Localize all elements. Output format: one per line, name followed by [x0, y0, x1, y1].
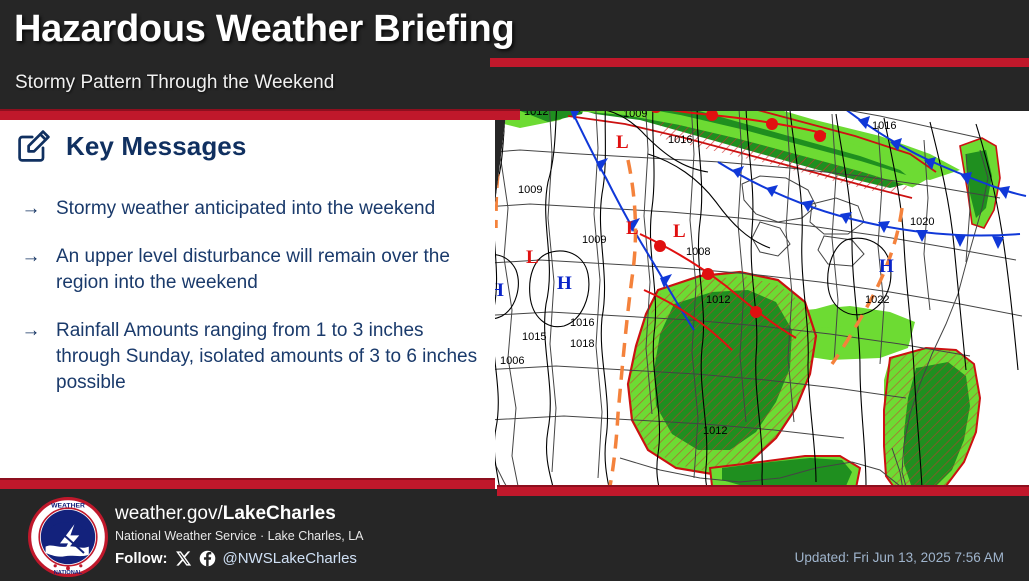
arrow-right-icon: → [20, 318, 42, 344]
briefing-graphic: 1012 1009 1020 1016 1012 1016 1020 1009 … [0, 0, 1029, 581]
isobar-label: 1020 [910, 216, 934, 228]
url-office: LakeCharles [223, 503, 336, 524]
isobar-label: 1018 [570, 338, 594, 350]
panel-bottom-accent-bar [0, 480, 495, 489]
social-row: Follow: @NWSLakeCharles [115, 550, 364, 567]
arrow-right-icon: → [20, 244, 42, 270]
x-twitter-icon[interactable] [175, 550, 192, 567]
branding-block: weather.gov/LakeCharles National Weather… [115, 503, 364, 567]
header-accent-bar [0, 111, 520, 120]
high-pressure-marker: H [879, 256, 894, 278]
low-pressure-marker: L [526, 247, 539, 269]
isobar-label: 1016 [872, 120, 896, 132]
bullet-text: Stormy weather anticipated into the week… [56, 196, 435, 222]
url-prefix: weather.gov/ [115, 503, 223, 524]
isobar-label: 1012 [703, 425, 727, 437]
bullet-text: An upper level disturbance will remain o… [56, 244, 486, 296]
header-bar: Hazardous Weather Briefing Stormy Patter… [0, 0, 1029, 111]
office-url[interactable]: weather.gov/LakeCharles [115, 503, 364, 525]
isobar-label: 1006 [500, 355, 524, 367]
isobar-label: 1008 [686, 246, 710, 258]
list-item: → Stormy weather anticipated into the we… [20, 196, 490, 222]
isobar-label: 1009 [518, 184, 542, 196]
isobar-label: 1012 [706, 294, 730, 306]
list-item: → An upper level disturbance will remain… [20, 244, 490, 296]
key-messages-list: → Stormy weather anticipated into the we… [20, 196, 490, 418]
map-bottom-accent-bar [497, 487, 1029, 496]
low-pressure-marker: L [616, 132, 629, 154]
isobar-label: 1016 [570, 317, 594, 329]
social-handle[interactable]: @NWSLakeCharles [223, 550, 357, 567]
arrow-right-icon: → [20, 196, 42, 222]
follow-label: Follow: [115, 550, 168, 567]
pencil-square-icon [16, 128, 52, 164]
low-pressure-marker: L [673, 221, 686, 243]
updated-timestamp: Updated: Fri Jun 13, 2025 7:56 AM [795, 550, 1004, 565]
map-top-accent-bar [490, 58, 1029, 67]
isobar-label: 1015 [522, 331, 546, 343]
svg-text:NATIONAL: NATIONAL [54, 570, 83, 576]
page-title: Hazardous Weather Briefing [14, 6, 514, 52]
map-canvas: 1012 1009 1020 1016 1012 1016 1020 1009 … [460, 58, 1029, 496]
isobar-label: 1016 [668, 134, 692, 146]
facebook-icon[interactable] [199, 550, 216, 567]
svg-text:WEATHER: WEATHER [51, 502, 85, 509]
map-graphic [460, 58, 1029, 496]
isobar-label: 1022 [865, 294, 889, 306]
surface-analysis-map: 1012 1009 1020 1016 1012 1016 1020 1009 … [460, 58, 1029, 496]
key-messages-title: Key Messages [66, 131, 246, 162]
isobar-label: 1009 [582, 234, 606, 246]
low-pressure-marker: L [626, 218, 639, 240]
page-subtitle: Stormy Pattern Through the Weekend [15, 72, 334, 94]
bullet-text: Rainfall Amounts ranging from 1 to 3 inc… [56, 318, 486, 396]
office-name: National Weather Service · Lake Charles,… [115, 529, 364, 543]
list-item: → Rainfall Amounts ranging from 1 to 3 i… [20, 318, 490, 396]
key-messages-header: Key Messages [16, 128, 246, 164]
high-pressure-marker: H [557, 273, 572, 295]
